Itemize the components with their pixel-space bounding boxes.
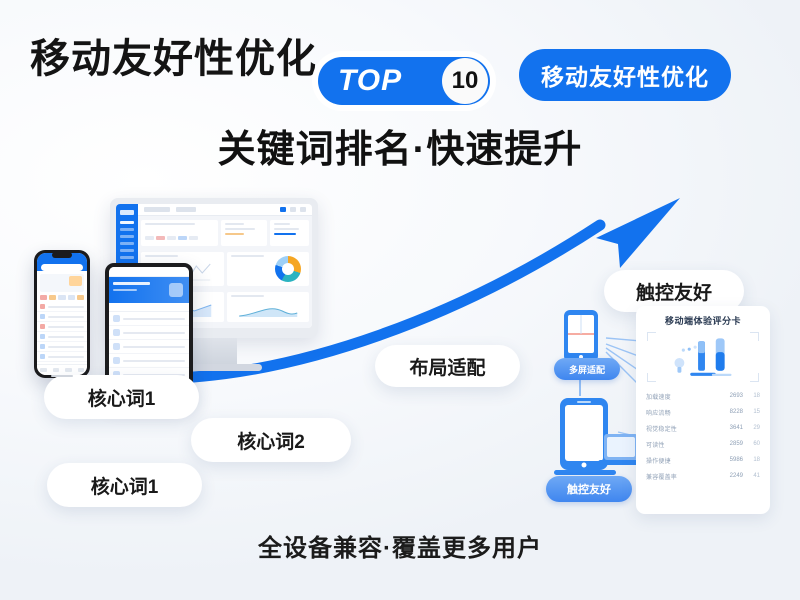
table-row: 加载速度 2693 18 (645, 388, 761, 404)
diagram-phone-main (560, 398, 608, 470)
row-delta: 60 (747, 441, 760, 447)
phone-home-indicator (51, 375, 73, 377)
footer-tagline: 全设备兼容·覆盖更多用户 (258, 528, 542, 563)
touch-friendly-badge: 触控友好 (546, 476, 632, 502)
dashboard-topbar (138, 204, 312, 216)
poster-canvas: 移动友好性优化 TOP 10 移动友好性优化 关键词排名·快速提升 (0, 0, 800, 600)
row-delta: 41 (747, 473, 760, 479)
score-card-rows: 加载速度 2693 18 响应流畅 8228 15 视觉稳定性 3641 29 … (645, 388, 761, 484)
row-value: 3641 (721, 425, 743, 431)
row-label: 兼容覆盖率 (646, 472, 717, 481)
table-row: 可读性 2859 60 (645, 436, 761, 452)
row-value: 2249 (721, 473, 743, 479)
score-card-illustration (647, 332, 759, 382)
row-delta: 18 (747, 457, 760, 463)
keyword-pill-1[interactable]: 核心词1 (44, 375, 199, 419)
phone-promo-card (40, 274, 84, 292)
row-value: 2859 (721, 441, 743, 447)
phone-screen (37, 253, 87, 375)
row-label: 可读性 (646, 440, 717, 449)
mobile-experience-panel: 多屏适配 触控友好 移动端体验评分卡 (540, 300, 772, 518)
row-value: 5986 (721, 457, 743, 463)
diagram-phone-top (564, 310, 598, 362)
row-label: 视觉稳定性 (646, 424, 717, 433)
top-rank-badge: TOP 10 (318, 57, 490, 105)
smartphone-icon (34, 250, 90, 378)
layout-adaptation-pill[interactable]: 布局适配 (375, 345, 520, 387)
table-row: 兼容覆盖率 2249 41 (645, 468, 761, 484)
row-delta: 15 (747, 409, 760, 415)
score-card: 移动端体验评分卡 加 (636, 306, 770, 514)
tablet-banner (109, 277, 189, 303)
wave-chart-icon (227, 300, 310, 318)
row-delta: 29 (747, 425, 760, 431)
score-card-title: 移动端体验评分卡 (645, 314, 761, 327)
header-tag-pill: 移动友好性优化 (519, 49, 731, 101)
keyword-pill-3[interactable]: 核心词1 (47, 463, 202, 507)
keyword-pill-2[interactable]: 核心词2 (191, 418, 351, 462)
row-label: 响应流畅 (646, 408, 717, 417)
table-row: 响应流畅 8228 15 (645, 404, 761, 420)
multiscreen-badge: 多屏适配 (554, 358, 620, 380)
donut-chart-icon (275, 256, 301, 282)
top-badge-label: TOP (338, 64, 402, 98)
row-delta: 18 (747, 393, 760, 399)
table-row: 视觉稳定性 3641 29 (645, 420, 761, 436)
row-label: 加载速度 (646, 392, 717, 401)
top-badge-number: 10 (442, 58, 488, 104)
page-title: 移动友好性优化 (30, 26, 317, 84)
phone-search-bar (41, 264, 83, 271)
table-row: 操作便捷 5986 18 (645, 452, 761, 468)
phone-quick-icons (37, 295, 87, 302)
row-label: 操作便捷 (646, 456, 717, 465)
monitor-stand (191, 338, 237, 364)
phone-notch (52, 252, 72, 258)
phone-tabbar (37, 364, 87, 375)
bar-chart-icon (647, 332, 759, 382)
row-value: 8228 (721, 409, 743, 415)
row-value: 2693 (721, 393, 743, 399)
